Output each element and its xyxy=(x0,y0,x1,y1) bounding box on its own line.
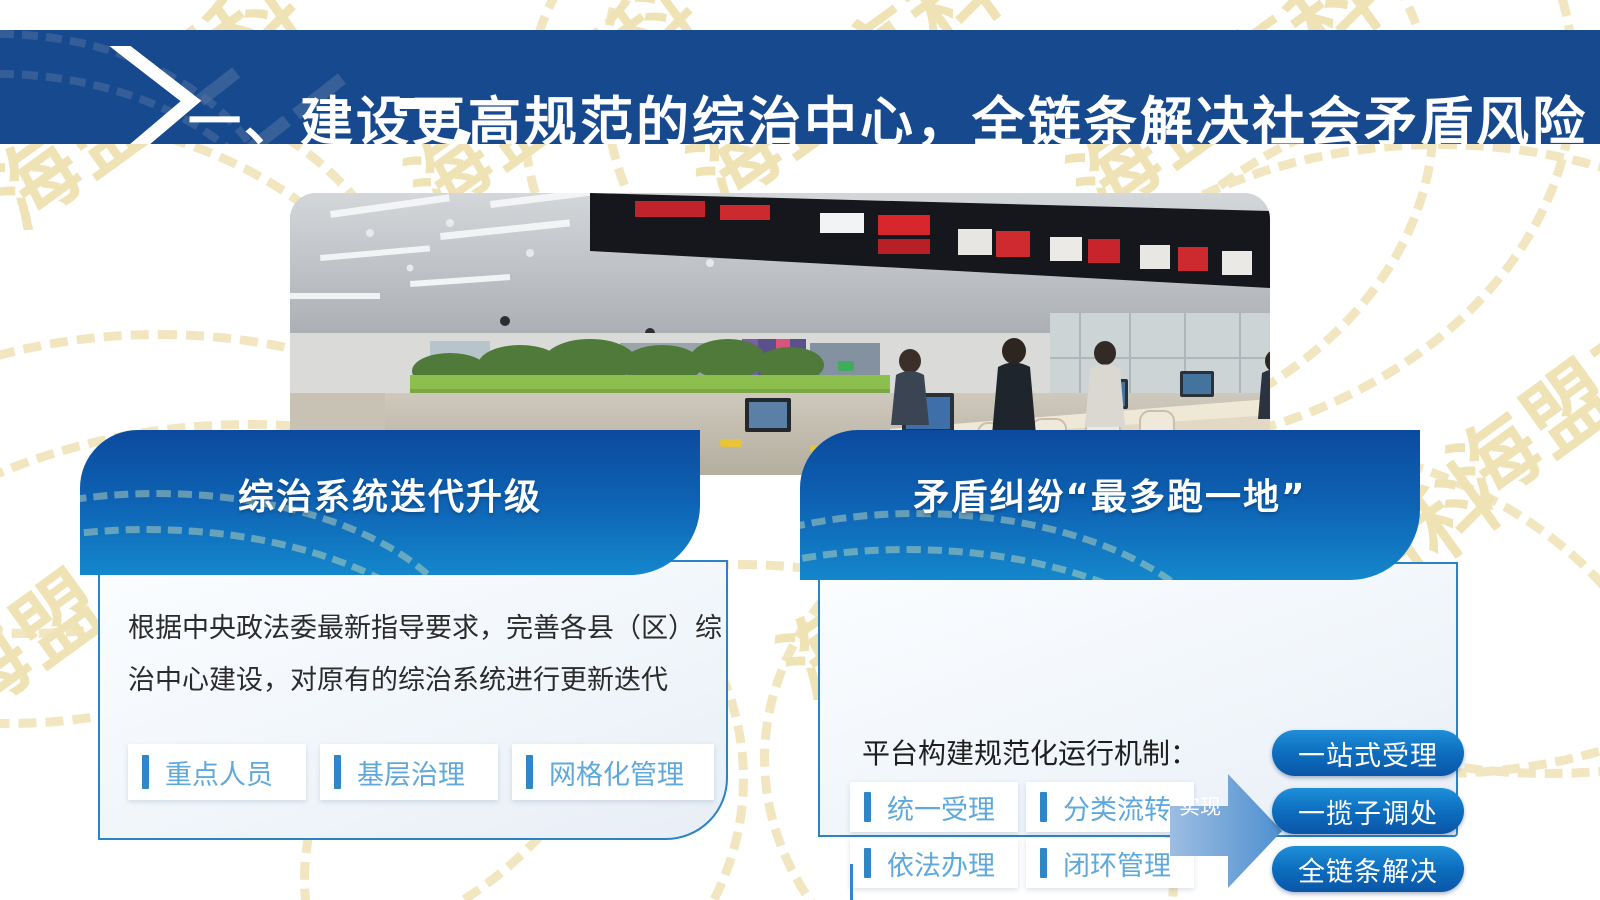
left-card-paragraph-line1: 根据中央政法委最新指导要求，完善各县（区）综 xyxy=(128,604,722,654)
chip-label: 分类流转 xyxy=(1063,788,1171,827)
left-card-paragraph-line2: 治中心建设，对原有的综治系统进行更新迭代 xyxy=(128,656,668,706)
right-chip-1[interactable]: 分类流转 xyxy=(1026,782,1194,832)
outcome-pill-0[interactable]: 一站式受理 xyxy=(1272,730,1464,776)
right-chip-2[interactable]: 依法办理 xyxy=(850,838,1018,888)
outcome-pill-2[interactable]: 全链条解决 xyxy=(1272,846,1464,892)
chip-accent-bar xyxy=(1040,792,1047,822)
right-card-header: 矛盾纠纷“最多跑一地” xyxy=(800,430,1420,580)
arrow-right-icon xyxy=(1170,772,1282,890)
outcome-pill-1[interactable]: 一揽子调处 xyxy=(1272,788,1464,834)
slogan: 推动矛盾纠纷风险高质效化解！ xyxy=(842,892,1318,900)
right-card-body: 平台构建规范化运行机制： 统一受理 分类流转 依法办理 闭环管理 xyxy=(818,562,1458,837)
chip-label: 网格化管理 xyxy=(549,753,684,792)
right-chip-0[interactable]: 统一受理 xyxy=(850,782,1018,832)
chip-label: 闭环管理 xyxy=(1063,844,1171,883)
title-bar: 一、建设更高规范的综治中心，全链条解决社会矛盾风险 xyxy=(0,30,1600,144)
left-card-body: 根据中央政法委最新指导要求，完善各县（区）综 治中心建设，对原有的综治系统进行更… xyxy=(98,560,728,840)
left-card-title: 综治系统迭代升级 xyxy=(80,468,700,520)
card-dispute-resolution: 平台构建规范化运行机制： 统一受理 分类流转 依法办理 闭环管理 xyxy=(800,430,1480,850)
card-system-upgrade: 根据中央政法委最新指导要求，完善各县（区）综 治中心建设，对原有的综治系统进行更… xyxy=(80,430,730,850)
chip-accent-bar xyxy=(1040,848,1047,878)
left-card-header: 综治系统迭代升级 xyxy=(80,430,700,575)
left-chip-2[interactable]: 网格化管理 xyxy=(512,744,714,800)
chip-accent-bar xyxy=(864,792,871,822)
chip-accent-bar xyxy=(526,755,533,789)
chip-accent-bar xyxy=(142,755,149,789)
right-card-lead: 平台构建规范化运行机制： xyxy=(862,732,1198,772)
arrow-label: 实现 xyxy=(1178,796,1222,820)
chip-label: 基层治理 xyxy=(357,753,465,792)
slide-root: 海盟高科 海盟高科 海盟高科 海盟高科 海盟高科 海盟高科 海盟高科 海盟高科 … xyxy=(0,0,1600,900)
chip-label: 统一受理 xyxy=(887,788,995,827)
chip-accent-bar xyxy=(334,755,341,789)
chip-label: 重点人员 xyxy=(165,753,273,792)
left-chip-1[interactable]: 基层治理 xyxy=(320,744,498,800)
arrow-implements: 实现 xyxy=(1170,772,1282,890)
slide-title: 一、建设更高规范的综治中心，全链条解决社会矛盾风险 xyxy=(188,80,1588,144)
right-chip-3[interactable]: 闭环管理 xyxy=(1026,838,1194,888)
right-card-title: 矛盾纠纷“最多跑一地” xyxy=(800,468,1420,520)
chip-label: 依法办理 xyxy=(887,844,995,883)
left-chip-0[interactable]: 重点人员 xyxy=(128,744,306,800)
chip-accent-bar xyxy=(864,848,871,878)
